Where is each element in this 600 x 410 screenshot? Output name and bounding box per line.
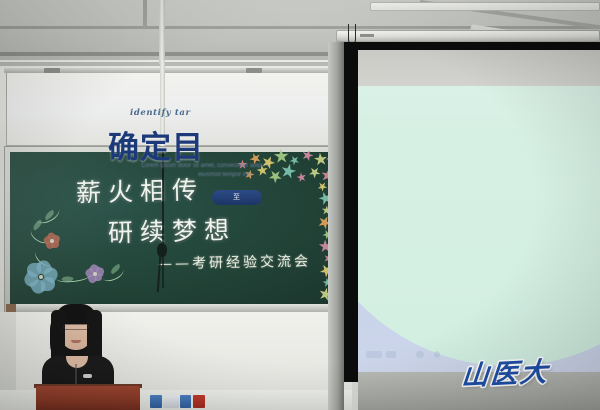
- projector-screen-top-band: [358, 50, 600, 86]
- watermark-logo: 山医大: [460, 350, 551, 393]
- fluorescent-tube-light-icon: [370, 2, 600, 11]
- desk-item-red-box: [193, 395, 205, 408]
- ceiling-beam-vertical: [143, 0, 147, 28]
- whiteboard-clip: [246, 68, 262, 73]
- desk-item-blue-box: [150, 395, 162, 408]
- screen-pull-cord: [348, 24, 356, 44]
- flower-center: [50, 239, 54, 243]
- wall-pillar-between-board-and-screen: [328, 42, 344, 410]
- ceiling-beam-horizontal-lower: [0, 52, 340, 56]
- desk-item-blue-box: [180, 395, 191, 408]
- roller-brand-label: [360, 34, 374, 37]
- slide-eyebrow-text: identify tar: [130, 108, 191, 118]
- whiteboard-frame-top: [0, 62, 352, 66]
- blackboard-title-line-2: 研续梦想: [108, 210, 237, 249]
- slide-body-line-2: eiusmod tempor inci: [150, 172, 300, 178]
- eyeglasses-icon: [63, 324, 89, 330]
- wall-divider-pole: [159, 0, 165, 64]
- classroom-photo: 薪火相传 研续梦想 ——考研经验交流会: [0, 0, 600, 410]
- flower-center: [39, 275, 43, 279]
- flower-center: [93, 272, 97, 276]
- cable-knot: [157, 243, 167, 257]
- slide-green-shape: [358, 86, 600, 366]
- chalk-flower-icon: [86, 265, 103, 282]
- slide-body-line-1: Lorem ipsum dolor sit amet, consectetur …: [112, 160, 292, 172]
- projector-screen-roller: [336, 30, 600, 42]
- chalk-flower-icon: [26, 262, 56, 292]
- desk-item-white-box: [163, 395, 179, 408]
- mouth: [71, 340, 81, 343]
- slide-button[interactable]: 至: [212, 190, 262, 205]
- name-badge: [83, 374, 92, 378]
- ceiling-beam-horizontal: [0, 26, 600, 29]
- podium: [36, 386, 140, 410]
- chalk-flower-icon: [44, 233, 60, 249]
- projected-slide: [358, 86, 600, 380]
- blackboard-subtitle: ——考研经验交流会: [158, 251, 311, 274]
- whiteboard-clip: [44, 68, 60, 73]
